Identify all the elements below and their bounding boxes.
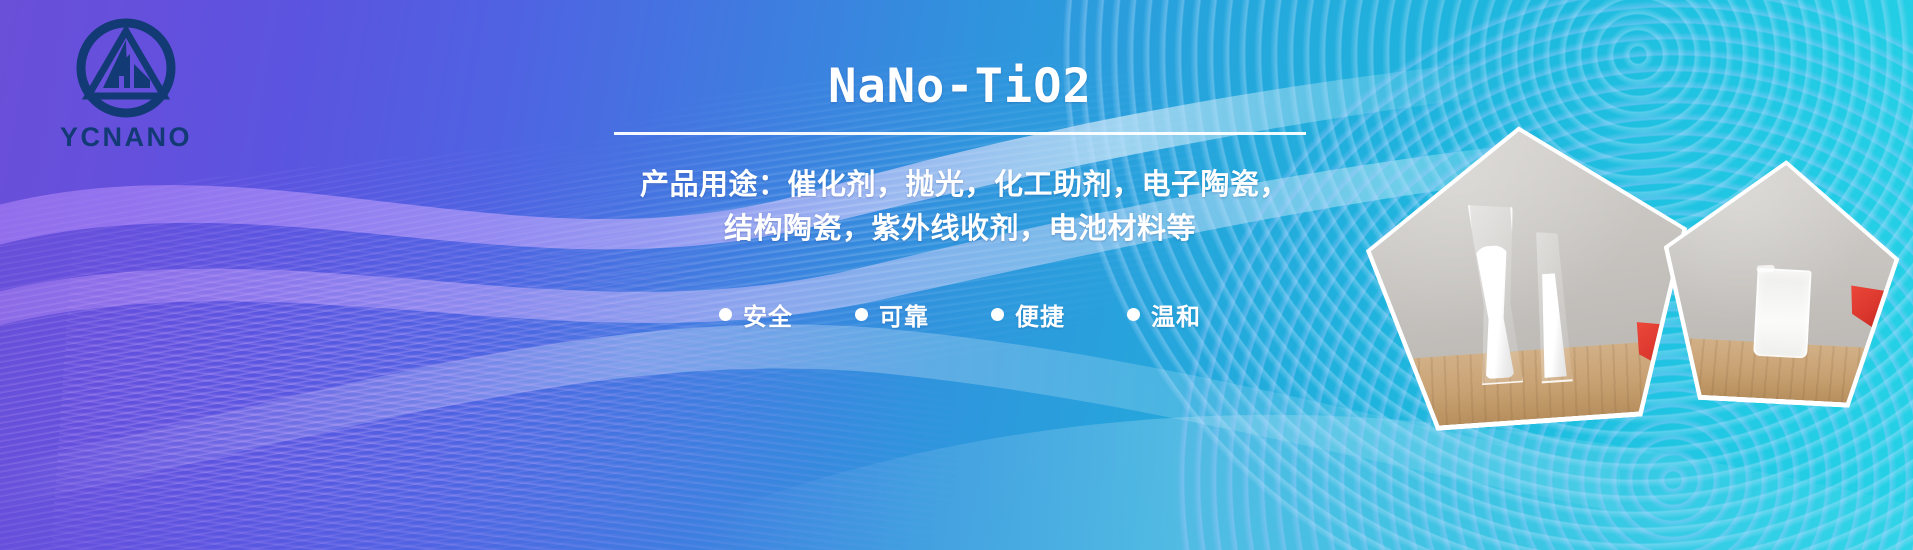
feature-label: 便捷 bbox=[1015, 297, 1065, 332]
white-ceramic-vases-photo bbox=[1358, 115, 1700, 435]
white-nano-suspension-beaker-photo bbox=[1656, 154, 1904, 410]
brand-wordmark: YCNANO bbox=[36, 124, 216, 151]
feature-label: 可靠 bbox=[879, 297, 929, 332]
feature-label: 安全 bbox=[743, 297, 793, 332]
beaker-with-white-liquid bbox=[1754, 267, 1812, 358]
hero-copy: NaNo-TiO2 产品用途：催化剂，抛光，化工助剂，电子陶瓷， 结构陶瓷，紫外… bbox=[560, 62, 1360, 332]
brand-logo[interactable]: YCNANO bbox=[36, 14, 216, 151]
feature-list: 安全 可靠 便捷 温和 bbox=[560, 297, 1360, 332]
feature-item-mild: 温和 bbox=[1127, 297, 1201, 332]
photo-frame-inner bbox=[1363, 120, 1694, 429]
feature-item-convenient: 便捷 bbox=[991, 297, 1065, 332]
page-title: NaNo-TiO2 bbox=[560, 62, 1360, 111]
ycnano-circle-triangle-logo-icon bbox=[72, 14, 180, 122]
title-divider bbox=[614, 132, 1306, 135]
dot-icon bbox=[719, 308, 732, 321]
dot-icon bbox=[991, 308, 1004, 321]
feature-label: 温和 bbox=[1151, 297, 1201, 332]
product-usage-text: 产品用途：催化剂，抛光，化工助剂，电子陶瓷， 结构陶瓷，紫外线收剂，电池材料等 bbox=[640, 163, 1280, 251]
dot-icon bbox=[855, 308, 868, 321]
product-banner: YCNANO NaNo-TiO2 产品用途：催化剂，抛光，化工助剂，电子陶瓷， … bbox=[0, 0, 1913, 550]
photo-frame-inner bbox=[1661, 159, 1899, 405]
feature-item-reliable: 可靠 bbox=[855, 297, 929, 332]
dot-icon bbox=[1127, 308, 1140, 321]
feature-item-safe: 安全 bbox=[719, 297, 793, 332]
usage-line-2: 结构陶瓷，紫外线收剂，电池材料等 bbox=[640, 207, 1280, 251]
usage-line-1: 产品用途：催化剂，抛光，化工助剂，电子陶瓷， bbox=[640, 163, 1280, 207]
